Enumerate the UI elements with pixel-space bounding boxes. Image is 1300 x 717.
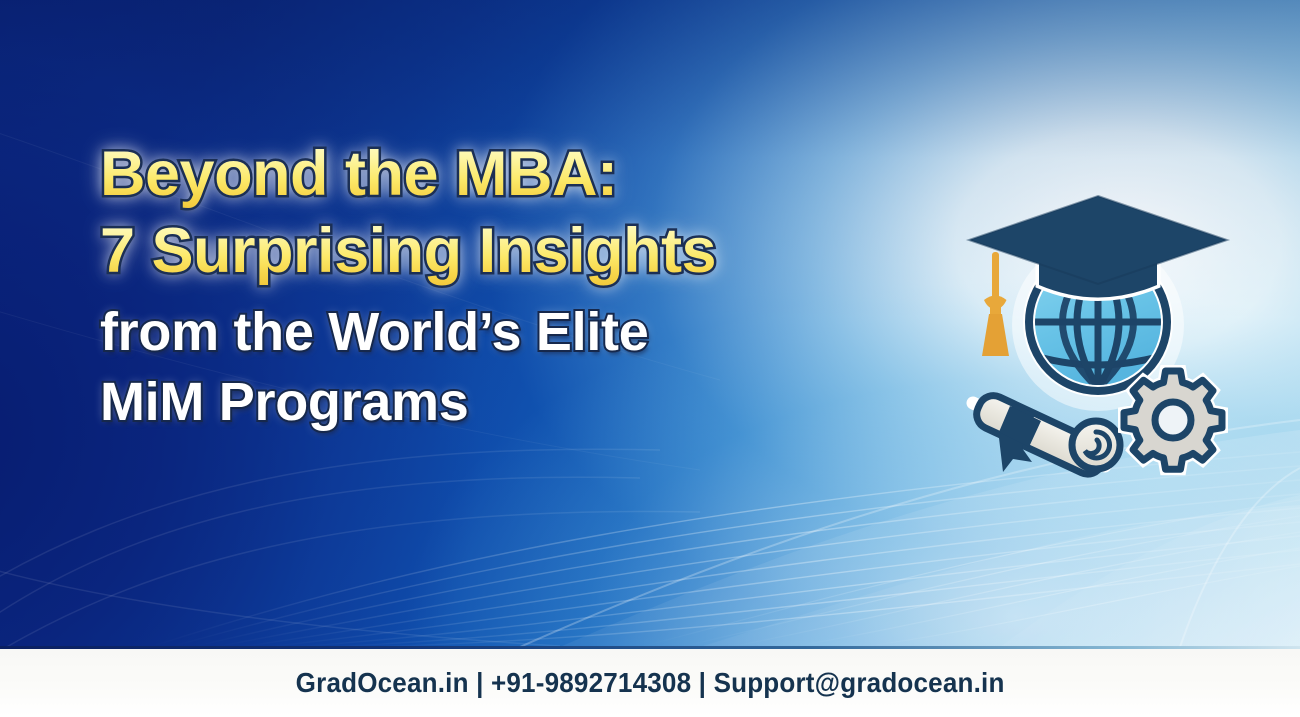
graduation-globe-diploma-gear-illustration	[955, 190, 1235, 490]
headline-line-3-text: from the World’s Elite	[100, 302, 648, 362]
graduation-cap-icon	[969, 196, 1227, 284]
scroll-curl	[1072, 421, 1120, 469]
gear-icon	[1124, 371, 1222, 469]
banner-root: Beyond the MBA: Beyond the MBA: 7 Surpri…	[0, 0, 1300, 717]
headline-line-2-text: 7 Surprising Insights	[100, 216, 716, 286]
headline-line-4: MiM Programs MiM Programs	[100, 375, 970, 429]
footer-bar: GradOcean.in | +91-9892714308 | Support@…	[0, 649, 1300, 717]
tassel-icon	[982, 252, 1009, 356]
headline-line-3: from the World’s Elite from the World’s …	[100, 305, 970, 359]
headline-block: Beyond the MBA: Beyond the MBA: 7 Surpri…	[100, 143, 970, 429]
headline-line-4-text: MiM Programs	[100, 372, 468, 432]
footer-contact-text[interactable]: GradOcean.in | +91-9892714308 | Support@…	[296, 667, 1005, 699]
headline-line-1-text: Beyond the MBA:	[100, 139, 617, 209]
headline-line-1: Beyond the MBA: Beyond the MBA:	[100, 143, 970, 206]
headline-line-2: 7 Surprising Insights 7 Surprising Insig…	[100, 220, 970, 283]
